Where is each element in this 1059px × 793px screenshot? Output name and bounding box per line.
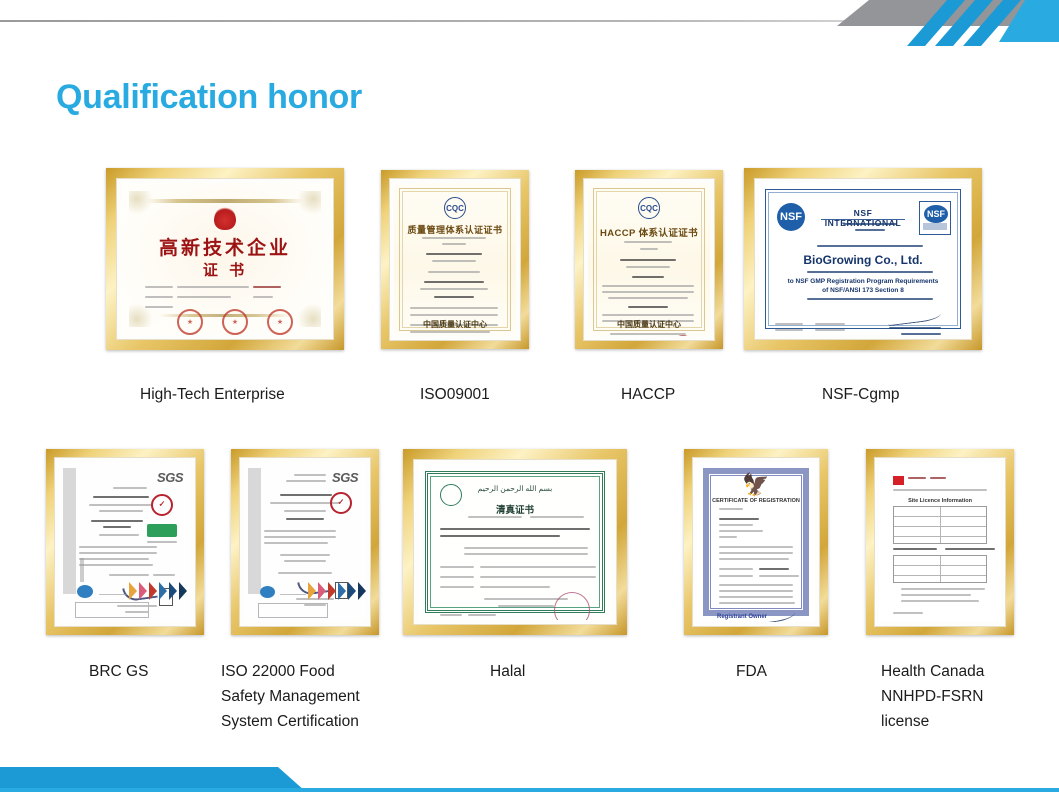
caption-iso-22000: ISO 22000 Food Safety Management System … [221, 659, 401, 734]
cert-program-line1: to NSF GMP Registration Program Requirem… [759, 278, 967, 285]
nsf-logo-icon: NSF [777, 203, 805, 231]
certificate-matte: CQC 质量管理体系认证证书 [389, 178, 521, 341]
certificate-paper: 🦅 CERTIFICATE OF REGISTRATION [697, 462, 815, 622]
cert-subtitle: 证 书 [121, 259, 329, 280]
caption-halal: Halal [490, 659, 610, 684]
certificate-frame: NSF NSF NSF INTERNATIONAL BioGrowing Co.… [744, 168, 982, 350]
caption-haccp: HACCP [621, 382, 781, 407]
certificate-health-canada[interactable]: Site Licence Information [866, 449, 1014, 635]
certificate-nsf-cgmp[interactable]: NSF NSF NSF INTERNATIONAL BioGrowing Co.… [744, 168, 982, 350]
certificate-matte: 🦅 CERTIFICATE OF REGISTRATION [692, 457, 820, 627]
certificate-high-tech-enterprise[interactable]: 高新技术企业 证 书 [106, 168, 344, 350]
cert-program-line2: of NSF/ANSI 173 Section 8 [759, 287, 967, 294]
certificate-matte: بسم الله الرحمن الرحيم 清真证书 [413, 459, 617, 625]
caption-fda: FDA [736, 659, 856, 684]
certificate-matte: Site Licence Information [874, 457, 1006, 627]
seal-icon [222, 309, 248, 335]
caption-iso9001: ISO09001 [420, 382, 580, 407]
certificate-paper: Site Licence Information [879, 462, 1001, 622]
sgs-tick-icon [151, 494, 173, 516]
accred-icon [260, 586, 275, 598]
sgs-tick-icon [330, 492, 352, 514]
cqc-logo-icon: CQC [444, 197, 466, 219]
caption-line-1: Health Canada [881, 659, 1059, 684]
seal-icon [554, 592, 590, 620]
page-title: Qualification honor [56, 78, 362, 117]
caption-line-3: System Certification [221, 709, 401, 734]
certificate-brc-gs[interactable]: SGS [46, 449, 204, 635]
certificate-frame: 🦅 CERTIFICATE OF REGISTRATION [684, 449, 828, 635]
caption-line-1: ISO 22000 Food [221, 659, 401, 684]
certificate-frame: 高新技术企业 证 书 [106, 168, 344, 350]
certificate-matte: CQC HACCP 体系认证证书 [583, 178, 715, 341]
caption-high-tech-enterprise: High-Tech Enterprise [140, 382, 360, 407]
certificate-frame: SGS [231, 449, 379, 635]
certificate-iso9001[interactable]: CQC 质量管理体系认证证书 [381, 170, 529, 349]
certificate-matte: SGS [54, 457, 196, 627]
accred-icon [77, 585, 93, 598]
top-right-decoration [829, 0, 1059, 46]
sgs-logo-icon: SGS [157, 470, 183, 485]
certificate-halal[interactable]: بسم الله الرحمن الرحيم 清真证书 [403, 449, 627, 635]
cert-title: 高新技术企业 [121, 233, 329, 260]
certificate-haccp[interactable]: CQC HACCP 体系认证证书 [575, 170, 723, 349]
eagle-emblem-icon: 🦅 [742, 474, 769, 496]
certificate-frame: SGS [46, 449, 204, 635]
header-rule [0, 20, 905, 22]
cert-title: HACCP 体系认证证书 [588, 225, 710, 239]
cert-issuer: 中国质量认证中心 [588, 319, 710, 330]
certificate-paper: بسم الله الرحمن الرحيم 清真证书 [418, 464, 612, 620]
nsf-mark-icon: NSF [919, 201, 951, 235]
certificate-frame: CQC 质量管理体系认证证书 [381, 170, 529, 349]
cert-title: NSF INTERNATIONAL [821, 208, 905, 228]
caption-line-3: license [881, 709, 1059, 734]
sgs-logo-icon: SGS [332, 470, 358, 485]
cert-issuer: 中国质量认证中心 [394, 319, 516, 330]
certificate-paper: CQC HACCP 体系认证证书 [588, 183, 710, 336]
cert-title: CERTIFICATE OF REGISTRATION [697, 498, 815, 504]
cert-title: Site Licence Information [879, 498, 1001, 504]
bottom-left-decoration [0, 753, 1059, 793]
brcgs-badge-icon [147, 524, 177, 537]
cert-title: 质量管理体系认证证书 [394, 223, 516, 236]
certificate-matte: 高新技术企业 证 书 [116, 178, 334, 340]
certificate-frame: CQC HACCP 体系认证证书 [575, 170, 723, 349]
emblem-icon [214, 206, 236, 230]
certificate-matte: NSF NSF NSF INTERNATIONAL BioGrowing Co.… [754, 178, 972, 340]
certificate-paper: SGS [59, 462, 191, 622]
cert-title: 清真证书 [418, 502, 612, 516]
certificate-matte: SGS [239, 457, 371, 627]
caption-line-2: NNHPD-FSRN [881, 684, 1059, 709]
certificate-frame: بسم الله الرحمن الرحيم 清真证书 [403, 449, 627, 635]
certificate-paper: SGS [244, 462, 366, 622]
cqc-logo-icon: CQC [638, 197, 660, 219]
certificate-paper: 高新技术企业 证 书 [121, 183, 329, 335]
caption-nsf-cgmp: NSF-Cgmp [822, 382, 1002, 407]
info-table [893, 506, 987, 544]
bismillah-text: بسم الله الرحمن الرحيم [418, 484, 612, 493]
info-table [893, 555, 987, 583]
certificate-paper: CQC 质量管理体系认证证书 [394, 183, 516, 336]
seal-icon [177, 309, 203, 335]
slide-root: Qualification honor 高新技术企业 [0, 0, 1059, 793]
certificate-iso-22000[interactable]: SGS [231, 449, 379, 635]
certificate-frame: Site Licence Information [866, 449, 1014, 635]
cert-company: BioGrowing Co., Ltd. [759, 253, 967, 267]
canada-flag-icon [893, 476, 904, 485]
certificate-fda[interactable]: 🦅 CERTIFICATE OF REGISTRATION [684, 449, 828, 635]
caption-line-2: Safety Management [221, 684, 401, 709]
seal-icon [267, 309, 293, 335]
caption-health-canada: Health Canada NNHPD-FSRN license [881, 659, 1059, 734]
certificate-paper: NSF NSF NSF INTERNATIONAL BioGrowing Co.… [759, 183, 967, 335]
